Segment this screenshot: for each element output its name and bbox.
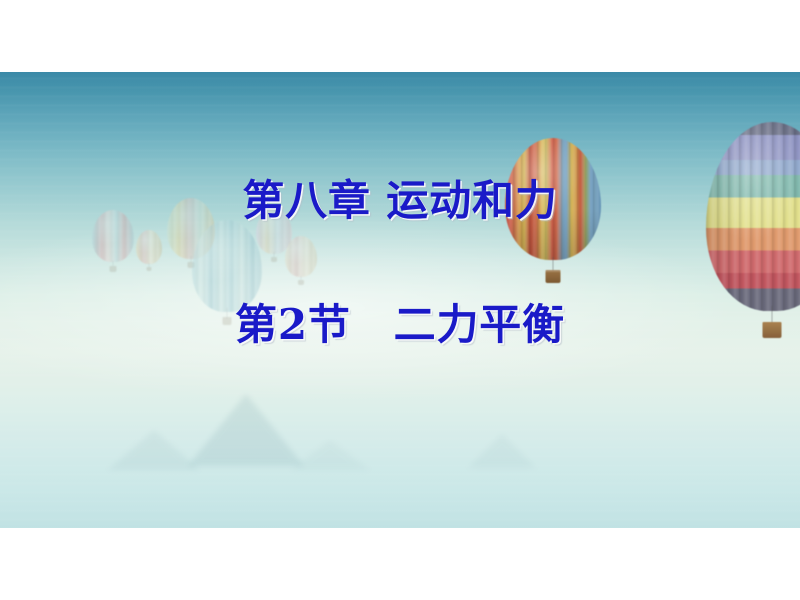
balloon-rope: [553, 257, 554, 271]
balloon-envelope: [505, 138, 601, 260]
balloon-basket: [110, 266, 117, 272]
balloon-basket: [546, 270, 561, 283]
mountain-main-shape: [188, 394, 304, 466]
balloon-basket: [763, 322, 782, 338]
mountain-mid-shape: [290, 440, 370, 470]
hot-air-balloon-center: [505, 138, 601, 290]
hot-air-balloon-faded-1: [92, 210, 134, 274]
hot-air-balloon-right: [706, 122, 800, 352]
balloon-basket: [147, 267, 152, 271]
hot-air-balloon-faded-6: [285, 236, 317, 286]
title-slide: 第八章 运动和力 第2节 二力平衡: [0, 0, 800, 600]
hot-air-balloon-faded-4: [192, 220, 262, 332]
mountain-right-shape: [468, 434, 536, 468]
balloon-basket: [298, 280, 304, 285]
balloon-basket: [223, 317, 232, 325]
mountain-left-shape: [108, 430, 200, 470]
hot-air-balloon-faded-2: [136, 230, 162, 272]
balloon-basket: [271, 257, 277, 262]
balloon-envelope: [192, 220, 262, 312]
balloon-envelope: [285, 236, 317, 277]
balloon-envelope: [706, 122, 800, 311]
background-photo: [0, 72, 800, 528]
balloon-envelope: [136, 230, 162, 264]
balloon-envelope: [92, 210, 134, 262]
